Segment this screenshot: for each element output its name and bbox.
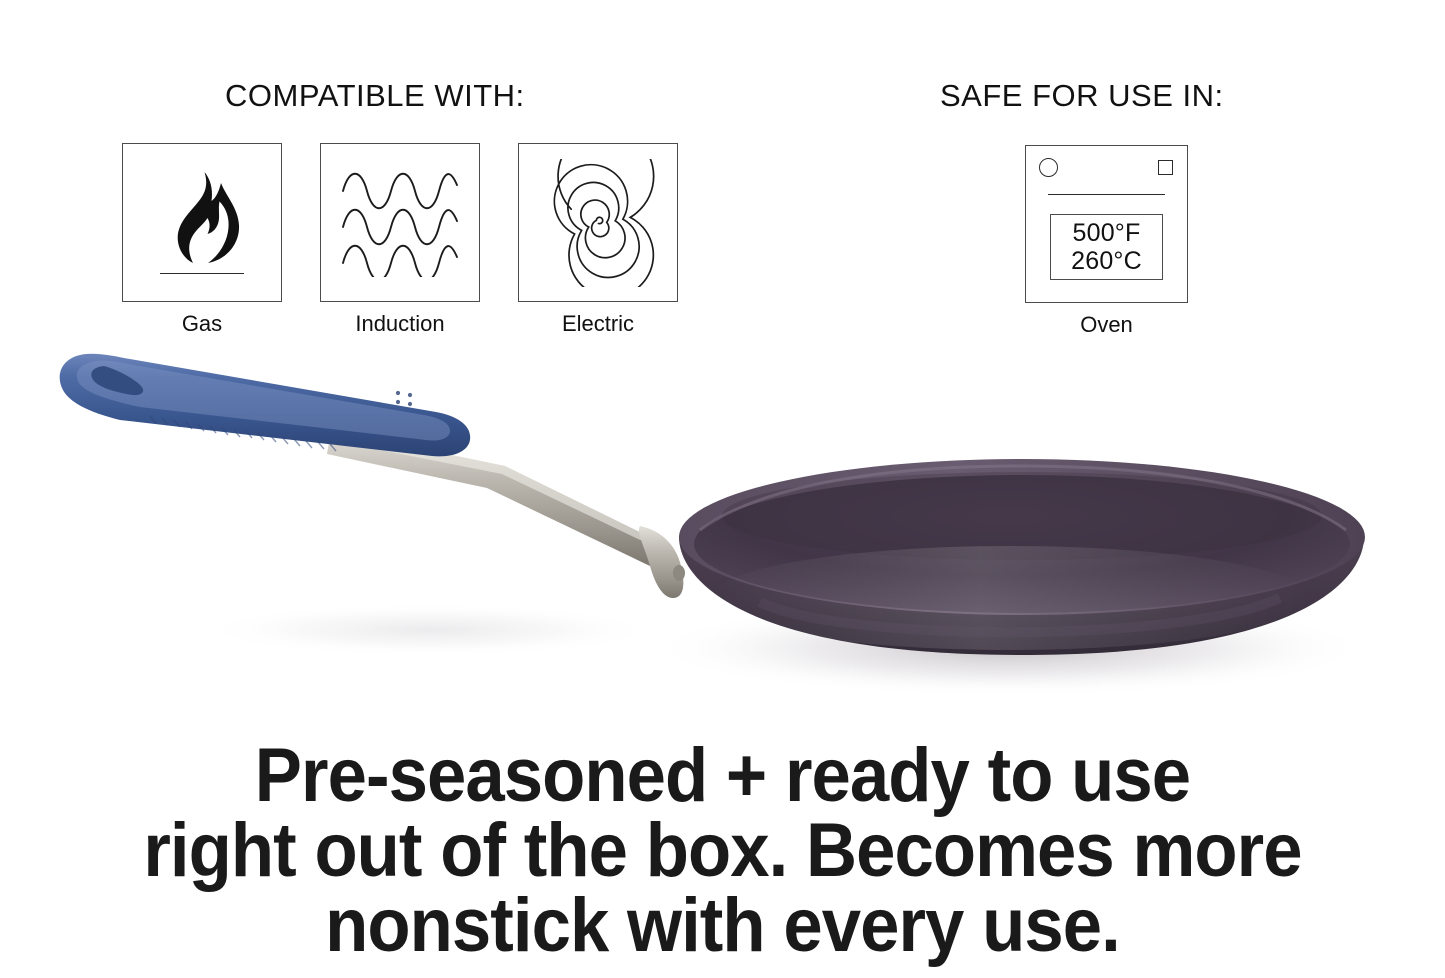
oven-knob-circle-icon <box>1039 158 1058 177</box>
compat-item-electric: Electric <box>518 143 678 335</box>
headline-block: Pre-seasoned + ready to use right out of… <box>0 738 1445 963</box>
compat-item-gas: Gas <box>122 143 282 335</box>
safe-item-oven: 500°F 260°C Oven <box>1025 145 1188 336</box>
compatible-with-heading: COMPATIBLE WITH: <box>225 78 525 114</box>
product-image-frying-pan <box>0 330 1445 730</box>
oven-icon-box: 500°F 260°C <box>1025 145 1188 303</box>
pan-handle-grip <box>60 354 471 457</box>
promo-graphic: COMPATIBLE WITH: Gas <box>0 0 1445 978</box>
compatible-icon-group: Gas Induction <box>122 143 678 335</box>
electric-icon-box <box>518 143 678 302</box>
safe-icon-group: 500°F 260°C Oven <box>1025 145 1188 336</box>
oven-icon: 500°F 260°C <box>1026 146 1187 302</box>
induction-waves-icon <box>339 169 461 277</box>
oven-temp-celsius: 260°C <box>1071 247 1142 275</box>
safe-for-use-in-heading: SAFE FOR USE IN: <box>940 78 1224 114</box>
headline-line-1: Pre-seasoned + ready to use <box>51 738 1395 813</box>
headline-line-2: right out of the box. Becomes more <box>51 813 1395 888</box>
flame-icon <box>160 144 244 301</box>
induction-icon-box <box>320 143 480 302</box>
oven-window: 500°F 260°C <box>1050 214 1163 280</box>
oven-knob-square-icon <box>1158 160 1173 175</box>
electric-coil-spiral-icon <box>534 159 662 287</box>
compat-item-induction: Induction <box>320 143 480 335</box>
bracket-rivet-lower <box>673 565 685 581</box>
gas-icon-box <box>122 143 282 302</box>
pan-handle-steel-arm <box>327 430 660 566</box>
oven-control-panel-divider <box>1048 194 1165 195</box>
oven-temp-fahrenheit: 500°F <box>1073 219 1141 247</box>
flame-base-line <box>160 273 244 275</box>
headline-line-3: nonstick with every use. <box>51 888 1395 963</box>
pan-body <box>679 459 1365 655</box>
